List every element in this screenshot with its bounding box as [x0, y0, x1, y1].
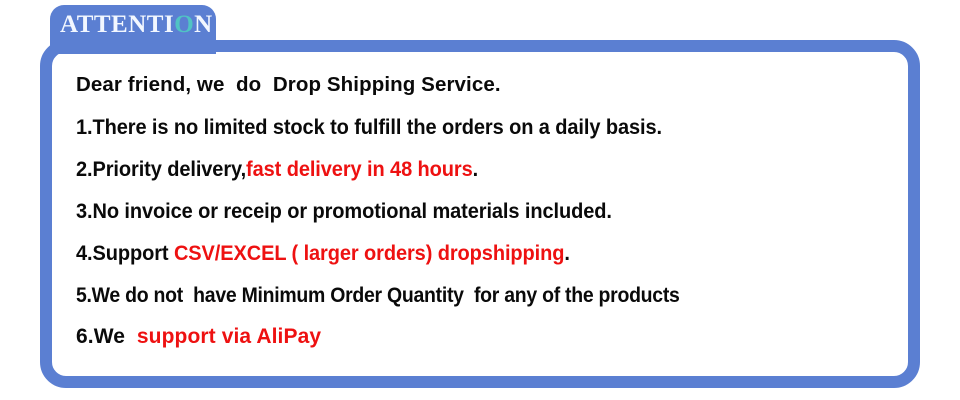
notice-text-segment: Dear friend, we do Drop Shipping Service…	[76, 73, 501, 96]
notice-text-segment: 3.No invoice or receip or promotional ma…	[76, 199, 612, 223]
notice-line-item-5: 5.We do not have Minimum Order Quantity …	[76, 274, 809, 316]
notice-line-item-1: 1.There is no limited stock to fulfill t…	[76, 106, 829, 148]
title-highlight-letter: O	[174, 11, 194, 38]
notice-text-segment: 6.We	[76, 325, 137, 348]
notice-text-segment-highlight: fast delivery in 48 hours	[246, 157, 473, 181]
notice-line-item-4: 4.Support CSV/EXCEL ( larger orders) dro…	[76, 232, 829, 274]
notice-text-segment-highlight: CSV/EXCEL ( larger orders) dropshipping	[174, 241, 564, 265]
title-text-after-highlight: N	[194, 11, 213, 38]
notice-text-segment: .	[473, 157, 478, 181]
notice-line-item-6: 6.We support via AliPay	[76, 316, 886, 358]
title-tab-frame-merge	[50, 40, 216, 54]
attention-title-text: ATTENTION	[60, 8, 213, 42]
notice-line-item-2: 2.Priority delivery,fast delivery in 48 …	[76, 148, 829, 190]
notice-text-segment: 2.Priority delivery,	[76, 157, 246, 181]
notice-line-intro: Dear friend, we do Drop Shipping Service…	[76, 64, 886, 106]
notice-text-segment-highlight: support via AliPay	[137, 325, 321, 348]
notice-text-segment: 1.There is no limited stock to fulfill t…	[76, 115, 662, 139]
notice-text-segment: 5.We do not have Minimum Order Quantity …	[76, 283, 680, 307]
attention-banner: ATTENTION Dear friend, we do Drop Shippi…	[0, 0, 960, 400]
notice-text-segment: 4.Support	[76, 241, 174, 265]
drop-shipping-notice-list: Dear friend, we do Drop Shipping Service…	[76, 64, 886, 358]
notice-line-item-3: 3.No invoice or receip or promotional ma…	[76, 190, 829, 232]
title-text-before-highlight: ATTENTI	[60, 11, 174, 38]
notice-text-segment: .	[564, 241, 569, 265]
